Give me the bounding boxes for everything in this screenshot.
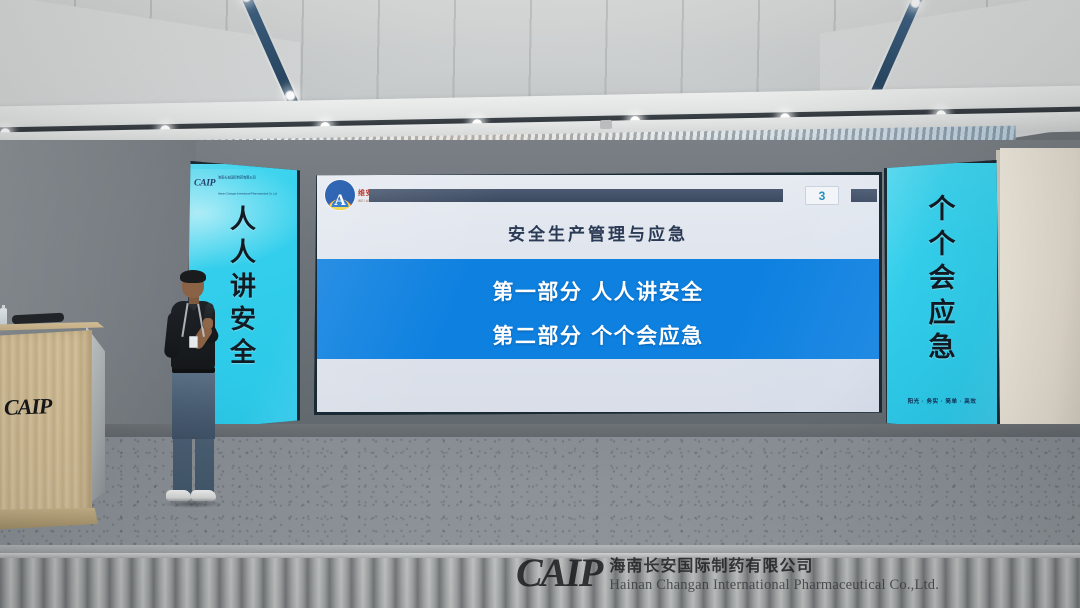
agenda-item-1: 第一部分 人人讲安全 [317,276,879,306]
emblem-letter: A [325,193,355,209]
slide-header: A 维安安全 WEI AN SAFETY 3 [317,175,879,217]
presenter-jeans [172,371,215,439]
lectern-caip-logo: CAIP [4,393,52,421]
banner-char: 个 [929,193,956,228]
header-bar-left [369,189,783,202]
banner-char: 人 [230,204,256,237]
ceiling-sensor-icon [600,120,612,129]
slide-number-badge: 3 [805,186,839,205]
banner-char: 全 [230,337,256,370]
presenter-shadow [162,500,224,508]
ceiling-spotlight [908,0,923,10]
presenter-hand [203,318,213,329]
slide-agenda-band: 第一部分 人人讲安全 第二部分 个个会应急 [317,259,879,359]
slide-canvas: A 维安安全 WEI AN SAFETY 3 安全生产管理与应急 第一部分 人人… [317,175,879,412]
presenter [158,272,232,517]
banner-char: 急 [929,331,956,366]
watermark-caip-logo: CAIP [516,553,601,593]
podium-microphone [12,313,64,325]
watermark-company-en: Hainan Changan International Pharmaceuti… [609,577,939,594]
right-banner-display[interactable]: 个 个 会 应 急 阳光 · 务实 · 简单 · 高效 [884,160,1000,434]
banner-char: 应 [929,297,956,332]
safety-emblem-icon: A [325,180,355,210]
lectern: CAIP [0,322,106,544]
right-banner-content: 个 个 会 应 急 阳光 · 务实 · 简单 · 高效 [887,163,997,431]
caip-wordmark: CAIP [194,178,215,189]
slide-title: 安全生产管理与应急 [317,220,879,245]
banner-char: 人 [230,237,256,270]
lectern-front-panel [0,330,92,526]
left-banner-logo: CAIP 海南长安国际制药有限公司 Hainan Changan Interna… [194,167,277,199]
right-banner-vertical-text: 个 个 会 应 急 [887,193,997,366]
presentation-hall-photo: CAIP 海南长安国际制药有限公司 Hainan Changan Interna… [0,0,1080,608]
header-bar-right [851,189,877,202]
main-projection-screen[interactable]: A 维安安全 WEI AN SAFETY 3 安全生产管理与应急 第一部分 人人… [314,172,882,415]
banner-char: 个 [929,228,956,263]
presenter-shoe-right [191,490,216,501]
presenter-shoe-left [166,490,191,501]
agenda-item-2: 第二部分 个个会应急 [317,320,879,350]
water-bottle [0,308,7,325]
presenter-hair [180,270,206,283]
lectern-base [0,508,98,530]
banner-char: 会 [929,262,956,297]
company-name-cn: 海南长安国际制药有限公司 [218,176,256,180]
banner-char: 讲 [230,271,256,304]
photo-watermark: CAIP 海南长安国际制药有限公司 Hainan Changan Interna… [516,552,939,594]
id-badge [189,336,198,348]
banner-char: 安 [230,304,256,337]
company-name-en: Hainan Changan International Pharmaceuti… [218,192,277,196]
watermark-company-cn: 海南长安国际制药有限公司 [609,552,939,576]
ceiling-spotlight [239,0,254,4]
right-banner-tagline: 阳光 · 务实 · 简单 · 高效 [887,397,997,405]
